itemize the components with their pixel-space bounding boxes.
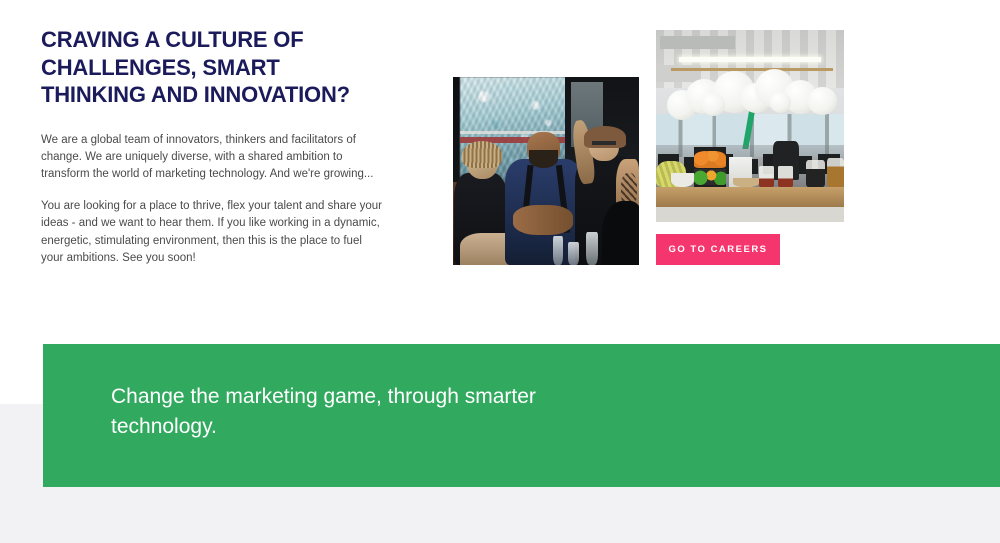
person-right-glasses: [592, 141, 616, 145]
intro-paragraph-2: You are looking for a place to thrive, f…: [41, 198, 386, 267]
office-light-strip: [679, 57, 822, 62]
open-plan-office-photo: [656, 30, 844, 222]
globe-light: [770, 92, 791, 113]
oranges: [694, 151, 726, 168]
lounge-foreground-silhouette: [602, 201, 639, 265]
careers-text-column: Craving a culture of challenges, smart t…: [41, 26, 386, 267]
snack-jar-red-1: [759, 166, 774, 188]
snack-jar-biscuits: [827, 158, 844, 188]
snack-jar-dark: [806, 160, 825, 188]
office-floor: [656, 207, 844, 222]
tagline-text: Change the marketing game, through smart…: [111, 382, 541, 442]
page-root: Craving a culture of challenges, smart t…: [0, 0, 1000, 543]
globe-light: [808, 87, 836, 115]
people-photo-art: [453, 77, 639, 265]
glass-2: [568, 242, 578, 265]
person-left-hair: [462, 141, 503, 168]
fruit-bowl: [671, 173, 694, 187]
globe-light: [702, 93, 725, 116]
peppers: [694, 169, 726, 185]
people-laughing-lounge-photo: [453, 77, 639, 265]
intro-paragraph-1: We are a global team of innovators, thin…: [41, 132, 386, 184]
snack-jar-red-2: [778, 166, 793, 188]
pendant-globe-lights: [664, 68, 841, 122]
office-duct-large: [660, 36, 735, 49]
bottle: [586, 232, 598, 265]
bread-basket: [733, 178, 759, 187]
tagline-banner: Change the marketing game, through smart…: [43, 344, 1000, 487]
office-counter-top: [656, 187, 844, 206]
person-center-beard: [529, 150, 558, 168]
glass-1: [553, 236, 563, 265]
office-photo-art: [656, 30, 844, 222]
page-title: Craving a culture of challenges, smart t…: [41, 26, 386, 109]
go-to-careers-button[interactable]: Go to Careers: [656, 234, 780, 265]
counter-snack-display: [656, 145, 844, 187]
